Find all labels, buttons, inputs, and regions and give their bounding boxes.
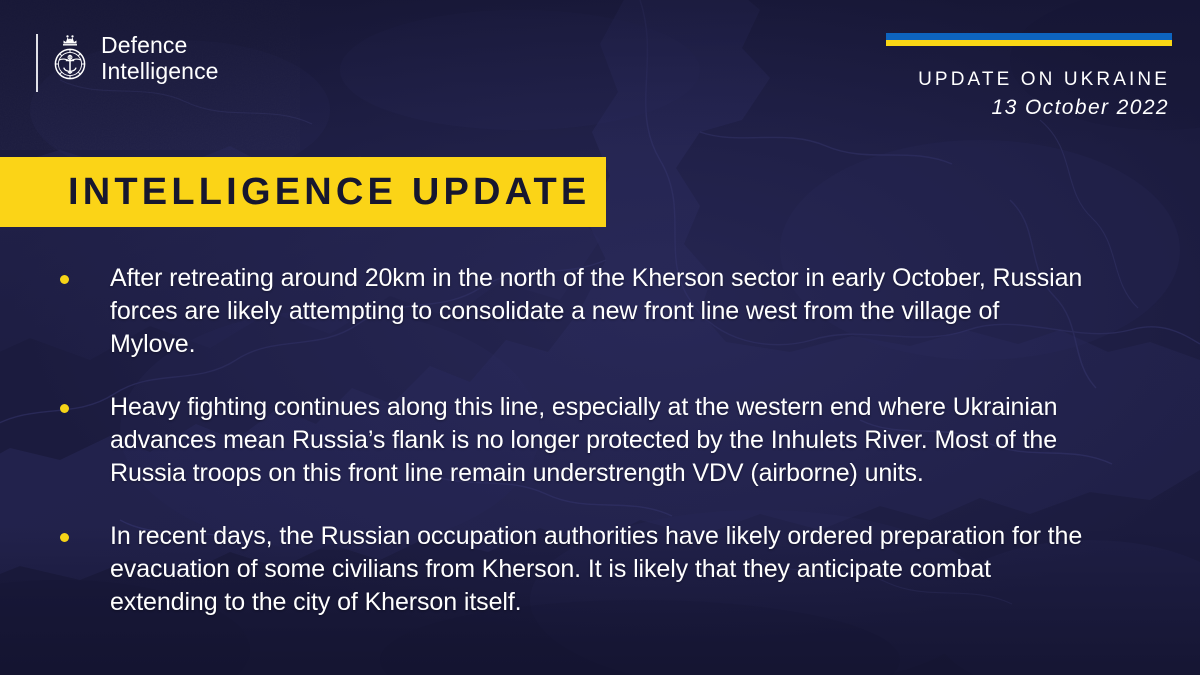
update-date: 13 October 2022 bbox=[752, 96, 1172, 120]
vertical-rule-icon bbox=[36, 34, 38, 92]
update-on-ukraine-label: UPDATE ON UKRAINE bbox=[752, 69, 1172, 91]
brand-wordmark: Defence Intelligence bbox=[101, 30, 219, 84]
bullet-text: After retreating around 20km in the nort… bbox=[110, 262, 1090, 361]
page-title: INTELLIGENCE UPDATE bbox=[0, 171, 590, 214]
yellow-dot-icon bbox=[60, 533, 69, 542]
list-item: Heavy fighting continues along this line… bbox=[60, 391, 1090, 490]
flag-stripe-blue bbox=[886, 33, 1172, 40]
yellow-dot-icon bbox=[60, 275, 69, 284]
list-item: After retreating around 20km in the nort… bbox=[60, 262, 1090, 361]
ukraine-flag-bar-icon bbox=[886, 33, 1172, 46]
bullet-text: Heavy fighting continues along this line… bbox=[110, 391, 1090, 490]
yellow-dot-icon bbox=[60, 404, 69, 413]
defence-intelligence-brand: Defence Intelligence bbox=[36, 30, 219, 92]
defence-intelligence-crest-icon bbox=[50, 30, 90, 88]
list-item: In recent days, the Russian occupation a… bbox=[60, 520, 1090, 619]
brand-line-intelligence: Intelligence bbox=[101, 58, 219, 84]
intelligence-update-banner: INTELLIGENCE UPDATE bbox=[0, 157, 606, 227]
flag-stripe-yellow bbox=[886, 40, 1172, 46]
brand-line-defence: Defence bbox=[101, 32, 219, 58]
update-header-block: UPDATE ON UKRAINE 13 October 2022 bbox=[752, 33, 1172, 120]
bullet-text: In recent days, the Russian occupation a… bbox=[110, 520, 1090, 619]
bullet-list: After retreating around 20km in the nort… bbox=[60, 262, 1090, 619]
